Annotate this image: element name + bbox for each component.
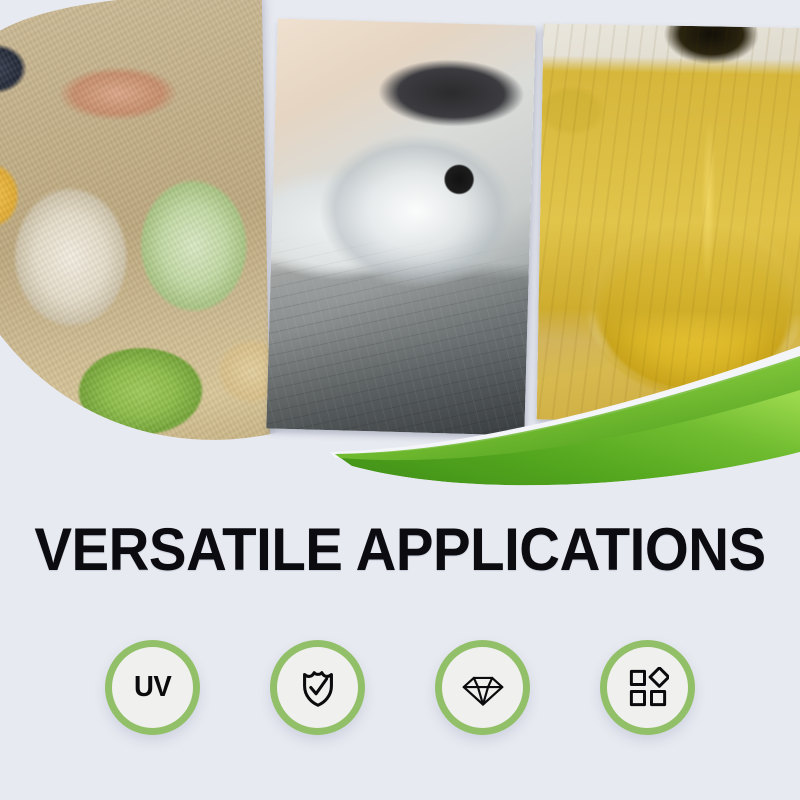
legumes-photo [0,0,270,449]
feature-badge-diamond[interactable] [435,640,530,735]
dishrack-photo [266,18,535,435]
image-collage [0,0,800,480]
page-title: VERSATILE APPLICATIONS [24,520,776,580]
legumes-panel [0,0,270,449]
apps-grid-icon [627,667,669,709]
feature-badge-apps[interactable] [600,640,695,735]
dishrack-panel [266,18,535,435]
product-feature-banner: VERSATILE APPLICATIONS UV [0,0,800,800]
uv-text-icon: UV [134,671,171,704]
cooking-oil-panel [537,23,800,424]
shield-check-icon [295,665,341,711]
feature-icon-row: UV [0,640,800,735]
diamond-gem-icon [461,666,505,710]
feature-badge-shield[interactable] [270,640,365,735]
feature-badge-uv[interactable]: UV [105,640,200,735]
cooking-oil-photo [537,23,800,424]
